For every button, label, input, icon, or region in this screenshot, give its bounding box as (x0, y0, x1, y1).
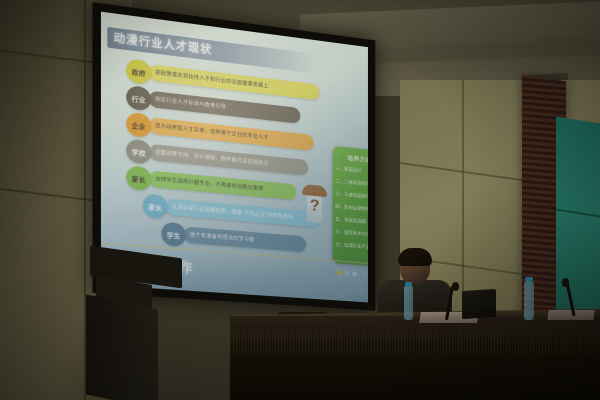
row-label: 学校 (128, 146, 149, 158)
corner-dot (337, 270, 342, 275)
water-bottle (524, 282, 534, 320)
teal-wall-section (556, 117, 600, 339)
row-label: 家长 (145, 201, 166, 213)
lectern (90, 252, 182, 400)
laptop (462, 289, 496, 319)
bottle-cap (525, 277, 533, 282)
row-label: 学生 (163, 229, 183, 241)
row-label: 企业 (128, 119, 149, 131)
table-front-texture (230, 330, 600, 354)
question-mark-icon: ? (310, 197, 320, 215)
microphone-head (452, 282, 459, 291)
row-label: 行业 (128, 92, 149, 105)
microphone-head (562, 278, 569, 287)
corner-dot (345, 271, 350, 276)
lectern-base (86, 294, 158, 400)
corner-dot (352, 271, 357, 276)
lecture-hall-scene: 动漫行业人才现状 政府 把政策落实到扶持人才和行业的全面健康发展上 行业 制定行… (0, 0, 600, 400)
row-label: 家长 (128, 173, 149, 185)
bottle-cap (405, 282, 412, 287)
presenter-hair (398, 248, 432, 266)
question-mark-figure: ? (298, 176, 332, 232)
panel-table (230, 316, 600, 400)
water-bottle (404, 286, 413, 320)
